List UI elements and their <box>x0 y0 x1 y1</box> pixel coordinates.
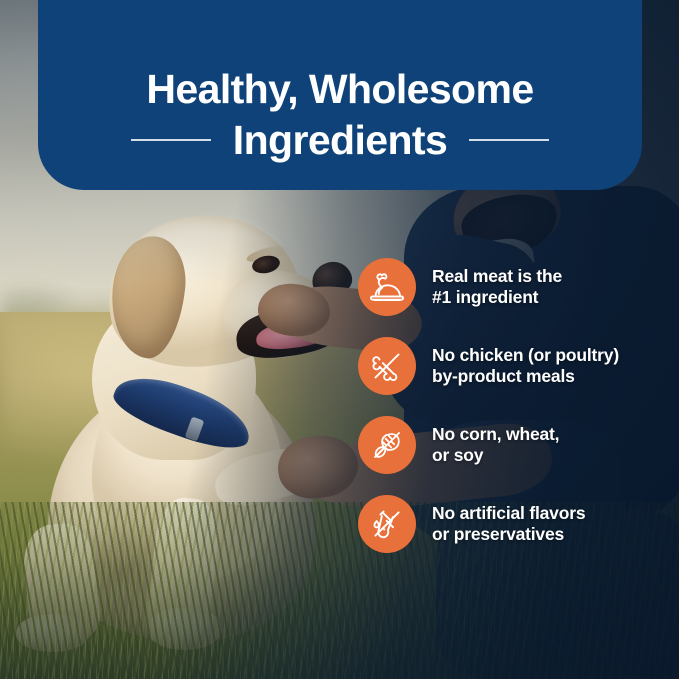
feature-line-2: by-product meals <box>432 366 575 386</box>
no-bone-icon <box>358 337 416 395</box>
header-card: Healthy, Wholesome Ingredients <box>38 0 642 190</box>
promo-banner: Healthy, Wholesome Ingredients <box>0 0 679 679</box>
feature-text-no-artificial: No artificial flavors or preservatives <box>432 503 585 546</box>
feature-line-2: or soy <box>432 445 483 465</box>
feature-text-real-meat: Real meat is the #1 ingredient <box>432 266 562 309</box>
feature-item-no-artificial: No artificial flavors or preservatives <box>358 495 658 553</box>
no-test-tube-icon <box>358 495 416 553</box>
feature-item-no-poultry-byproduct: No chicken (or poultry) by-product meals <box>358 337 658 395</box>
roast-chicken-icon <box>358 258 416 316</box>
feature-line-1: No chicken (or poultry) <box>432 345 619 365</box>
feature-list: Real meat is the #1 ingredient No chicke… <box>358 258 658 553</box>
page-title-row-2: Ingredients <box>131 114 549 166</box>
title-rule-right <box>469 139 549 141</box>
feature-line-1: No artificial flavors <box>432 503 585 523</box>
feature-text-no-poultry-byproduct: No chicken (or poultry) by-product meals <box>432 345 619 388</box>
feature-text-no-grain: No corn, wheat, or soy <box>432 424 559 467</box>
page-title-line-1: Healthy, Wholesome <box>146 63 533 115</box>
photo-bottom-tint <box>0 557 679 679</box>
feature-line-1: Real meat is the <box>432 266 562 286</box>
no-grain-icon <box>358 416 416 474</box>
page-title-line-2: Ingredients <box>233 114 447 166</box>
feature-line-2: or preservatives <box>432 524 564 544</box>
feature-item-real-meat: Real meat is the #1 ingredient <box>358 258 658 316</box>
feature-line-1: No corn, wheat, <box>432 424 559 444</box>
feature-item-no-grain: No corn, wheat, or soy <box>358 416 658 474</box>
feature-line-2: #1 ingredient <box>432 287 538 307</box>
title-rule-left <box>131 139 211 141</box>
